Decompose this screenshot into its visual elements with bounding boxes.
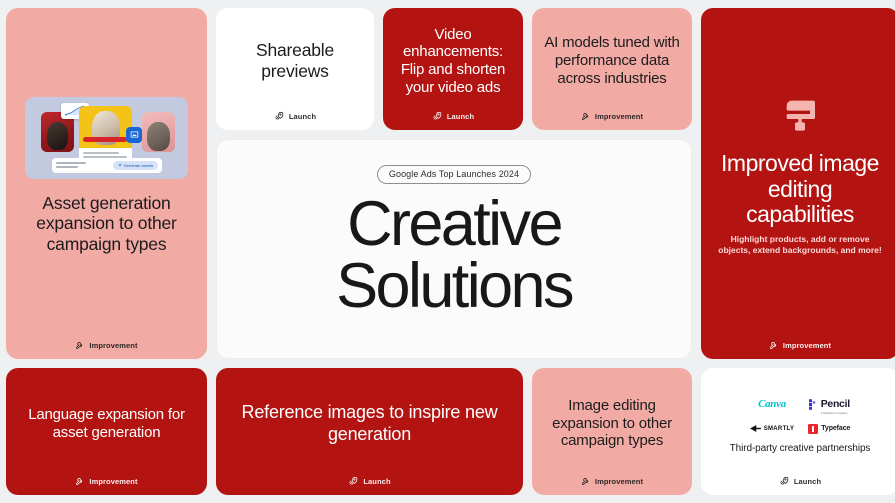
hero-title-line-1: Creative bbox=[336, 194, 572, 256]
status-tag-launch: Launch bbox=[216, 476, 523, 486]
hero-inner: Google Ads Top Launches 2024 Creative So… bbox=[229, 150, 679, 332]
card-image-editing-expansion[interactable]: Image editing expansion to other campaig… bbox=[532, 368, 692, 495]
image-sparkle-icon bbox=[130, 130, 139, 139]
rocket-icon bbox=[779, 476, 789, 486]
status-tag-label: Improvement bbox=[783, 341, 831, 350]
launch-cards-board: ★★★★★(71) Generate assets Asset generati… bbox=[0, 0, 895, 503]
rocket-icon bbox=[274, 111, 284, 121]
card-improved-image-editing[interactable]: Improved image editing capabilities High… bbox=[701, 8, 895, 359]
dog-collar bbox=[83, 137, 127, 142]
status-tag-improvement: Improvement bbox=[532, 112, 692, 121]
status-tag-label: Improvement bbox=[595, 112, 643, 121]
dog-photo-right bbox=[142, 112, 175, 152]
card-video-enhancements[interactable]: Video enhancements: Flip and shorten you… bbox=[383, 8, 523, 130]
status-tag-improvement: Improvement bbox=[701, 341, 895, 350]
status-tag-label: Improvement bbox=[89, 341, 137, 350]
status-tag-launch: Launch bbox=[216, 111, 374, 121]
pencil-tagline: a brandtech company bbox=[821, 412, 850, 415]
status-tag-label: Launch bbox=[363, 477, 390, 486]
status-tag-label: Launch bbox=[794, 477, 821, 486]
typeface-mark-icon bbox=[808, 424, 818, 434]
prompt-bar[interactable]: Generate assets bbox=[52, 158, 162, 173]
wrench-icon bbox=[581, 477, 590, 486]
wrench-icon bbox=[769, 341, 778, 350]
status-tag-improvement: Improvement bbox=[6, 477, 207, 486]
card-asset-generation[interactable]: ★★★★★(71) Generate assets Asset generati… bbox=[6, 8, 207, 359]
generate-assets-label: Generate assets bbox=[124, 163, 153, 168]
rocket-icon bbox=[348, 476, 358, 486]
card-shareable-previews[interactable]: Shareable previews Launch bbox=[216, 8, 374, 130]
partner-logo-pencil: Pencil a brandtech company bbox=[809, 394, 850, 415]
status-tag-label: Launch bbox=[289, 112, 316, 121]
smartly-wordmark: SMARTLY bbox=[764, 426, 795, 432]
partner-logo-grid: Canva Pencil a brandtech company bbox=[750, 394, 851, 434]
generate-assets-button[interactable]: Generate assets bbox=[113, 161, 158, 170]
card-title: Shareable previews bbox=[228, 40, 362, 81]
partner-logo-typeface: Typeface bbox=[808, 424, 850, 434]
card-title: Video enhancements: Flip and shorten you… bbox=[395, 26, 511, 97]
prompt-text-lines bbox=[56, 162, 86, 168]
card-title: AI models tuned with performance data ac… bbox=[544, 34, 680, 87]
card-title: Asset generation expansion to other camp… bbox=[18, 193, 195, 255]
card-title: Third-party creative partnerships bbox=[730, 443, 871, 454]
paintbrush-icon bbox=[780, 94, 820, 139]
status-tag-label: Improvement bbox=[89, 477, 137, 486]
asset-title-line bbox=[83, 152, 119, 154]
status-tag-improvement: Improvement bbox=[532, 477, 692, 486]
card-third-party-partnerships[interactable]: Canva Pencil a brandtech company bbox=[701, 368, 895, 495]
status-tag-launch: Launch bbox=[383, 111, 523, 121]
hero-card-creative-solutions: Google Ads Top Launches 2024 Creative So… bbox=[216, 139, 692, 359]
card-ai-models[interactable]: AI models tuned with performance data ac… bbox=[532, 8, 692, 130]
card-title: Reference images to inspire new generati… bbox=[228, 402, 511, 444]
wrench-icon bbox=[581, 112, 590, 121]
status-tag-improvement: Improvement bbox=[6, 341, 207, 350]
status-tag-label: Launch bbox=[447, 112, 474, 121]
card-title: Language expansion for asset generation bbox=[18, 406, 195, 441]
pencil-wordmark-wrap: Pencil a brandtech company bbox=[821, 394, 850, 415]
pencil-mark-icon bbox=[809, 399, 818, 410]
card-subtitle: Highlight products, add or remove object… bbox=[713, 234, 887, 256]
edit-tool-icon bbox=[126, 127, 142, 143]
rocket-icon bbox=[432, 111, 442, 121]
hero-pill-badge: Google Ads Top Launches 2024 bbox=[377, 165, 531, 184]
paintbrush-glyph bbox=[780, 94, 820, 134]
hero-title: Creative Solutions bbox=[336, 194, 572, 317]
card-title: Improved image editing capabilities bbox=[713, 151, 887, 227]
canva-wordmark: Canva bbox=[758, 398, 786, 410]
hero-title-line-2: Solutions bbox=[336, 256, 572, 318]
partner-logo-smartly: SMARTLY bbox=[750, 425, 795, 432]
typeface-wordmark: Typeface bbox=[821, 425, 850, 432]
status-tag-launch: Launch bbox=[701, 476, 895, 486]
status-tag-label: Improvement bbox=[595, 477, 643, 486]
generated-asset-card bbox=[79, 106, 132, 154]
smartly-mark-icon bbox=[750, 425, 761, 432]
sparkle-icon bbox=[118, 163, 122, 167]
card-reference-images[interactable]: Reference images to inspire new generati… bbox=[216, 368, 523, 495]
card-language-expansion[interactable]: Language expansion for asset generation … bbox=[6, 368, 207, 495]
wrench-icon bbox=[75, 477, 84, 486]
asset-generation-thumbnail: ★★★★★(71) Generate assets bbox=[25, 97, 188, 179]
pencil-wordmark: Pencil bbox=[821, 398, 850, 410]
partner-logo-canva: Canva bbox=[758, 398, 786, 410]
card-title: Image editing expansion to other campaig… bbox=[544, 397, 680, 450]
wrench-icon bbox=[75, 341, 84, 350]
